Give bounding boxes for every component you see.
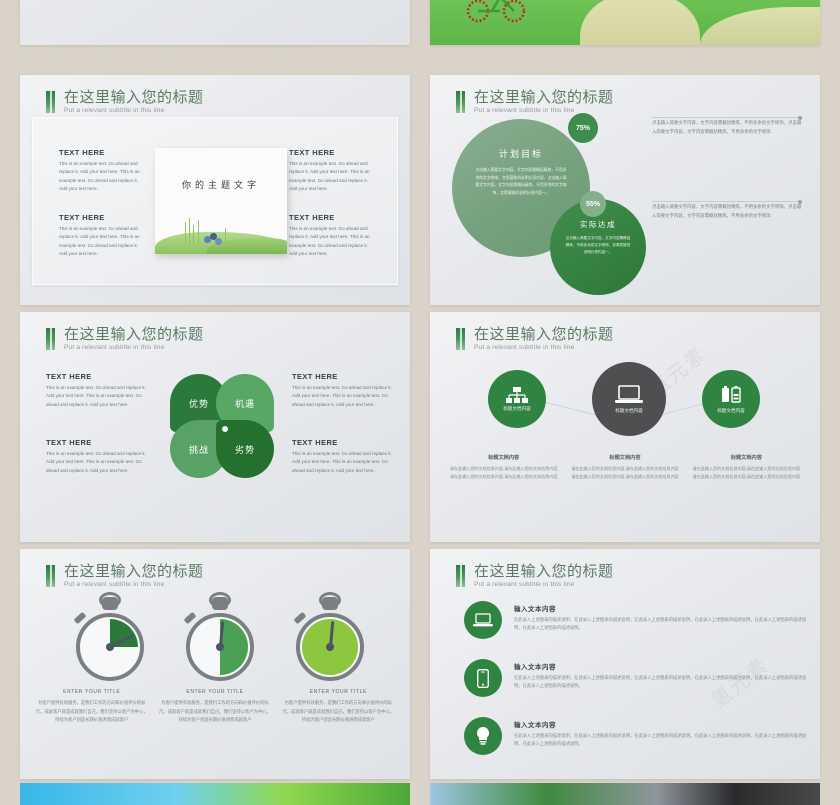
column-heading: 标题文档内容 [569, 454, 680, 461]
list-item-body: 在此录入上述图表的描述说明，在此录入上述图表的描述说明，在此录入上述图表的描述说… [514, 674, 808, 691]
slide5-block: TEXT HERE This is an example text. Go ah… [292, 372, 396, 409]
slide5-block: TEXT HERE This is an example text. Go ah… [46, 438, 150, 475]
list-item-text: 输入文本内容 在此录入上述图表的描述说明，在此录入上述图表的描述说明，在此录入上… [514, 601, 808, 633]
slide4-note-bottom: 点击输入简要文字内容，文字内容需概括精炼，不用多余的文字修饰，点击输入简要文字内… [652, 203, 802, 220]
plan-target-body: 点击输入简要文字内容，文字内容需概括精炼，不用多余的文字修饰，言简意赅的说明分项… [474, 167, 568, 197]
slide-thumbnail-3[interactable]: 在这里输入您的标题 Put a relevant subtitle in thi… [20, 75, 410, 305]
slide3-block: TEXT HERE This is an example text. Go ah… [289, 213, 375, 259]
title-accent-bar [456, 328, 465, 350]
slide4-title: 在这里输入您的标题 [474, 89, 614, 106]
slide7-column: ENTER YOUR TITLE 为客户提供有效服务，是我们工作的方向和价值评价… [157, 689, 272, 725]
slide5-title: 在这里输入您的标题 [64, 326, 204, 343]
stopwatch-2 [182, 597, 258, 689]
eco-illustration [430, 0, 820, 45]
sitemap-icon [506, 387, 528, 403]
list-item[interactable]: 输入文本内容 在此录入上述图表的描述说明，在此录入上述图表的描述说明，在此录入上… [464, 601, 808, 639]
stopwatch-crown [102, 597, 118, 610]
timer-label: ENTER YOUR TITLE [281, 689, 396, 695]
block-body: This is an example text. Go ahead and re… [292, 384, 396, 409]
bicycle-icon [466, 0, 530, 23]
laptop-badge [464, 601, 502, 639]
stopwatch-3 [292, 597, 368, 689]
stopwatch-crown [322, 597, 338, 610]
slide7-subtitle: Put a relevant subtitle in this line [64, 581, 204, 588]
slide6-subtitle: Put a relevant subtitle in this line [474, 344, 614, 351]
slide5-subtitle: Put a relevant subtitle in this line [64, 344, 204, 351]
slide3-subtitle: Put a relevant subtitle in this line [64, 107, 204, 114]
slide7-header: 在这里输入您的标题 Put a relevant subtitle in thi… [46, 563, 204, 588]
timer-label: ENTER YOUR TITLE [157, 689, 272, 695]
petal-label: 机遇 [235, 397, 255, 410]
laptop-icon [473, 613, 493, 628]
block-heading: TEXT HERE [46, 438, 150, 447]
slide3-title: 在这里输入您的标题 [64, 89, 204, 106]
block-body: This is an example text. Go ahead and re… [59, 160, 141, 194]
slide3-header: 在这里输入您的标题 Put a relevant subtitle in thi… [46, 89, 204, 114]
slide8-header: 在这里输入您的标题 Put a relevant subtitle in thi… [456, 563, 614, 588]
column-body: 请在此输入您的文档信息内容,请在此输入您的文档信息内容 请在此输入您的文档信息内… [569, 465, 680, 481]
timer-body: 为客户提供有效服务，是我们工作的方向和价值评价的标尺。成就客户就是成就我们自己。… [281, 699, 396, 725]
timer-body: 为客户提供有效服务，是我们工作的方向和价值评价的标尺。成就客户就是成就我们自己。… [34, 699, 149, 725]
slide-thumbnail-7[interactable]: 在这里输入您的标题 Put a relevant subtitle in thi… [20, 549, 410, 779]
block-body: This is an example text. Go ahead and re… [46, 384, 150, 409]
slide3-block: TEXT HERE This is an example text. Go ah… [59, 148, 141, 194]
card-main-text: 你的主题文字 [155, 178, 287, 191]
slide4-header: 在这里输入您的标题 Put a relevant subtitle in thi… [456, 89, 614, 114]
actual-achieve-label: 实际达成 [550, 219, 646, 230]
slide-thumbnail-4[interactable]: 在这里输入您的标题 Put a relevant subtitle in thi… [430, 75, 820, 305]
smartphone-badge [464, 659, 502, 697]
node-label: 标题文档内容 [615, 408, 643, 414]
slide6-column: 标题文档内容 请在此输入您的文档信息内容,请在此输入您的文档信息内容 请在此输入… [448, 454, 559, 481]
column-heading: 标题文档内容 [691, 454, 802, 461]
title-accent-bar [456, 91, 465, 113]
column-heading: 标题文档内容 [448, 454, 559, 461]
slide6-header: 在这里输入您的标题 Put a relevant subtitle in thi… [456, 326, 614, 351]
list-item-text: 输入文本内容 在此录入上述图表的描述说明，在此录入上述图表的描述说明，在此录入上… [514, 659, 808, 691]
leader-line-bottom [652, 201, 800, 202]
slide-thumbnail-5[interactable]: 在这里输入您的标题 Put a relevant subtitle in thi… [20, 312, 410, 542]
slide-thumbnail-6[interactable]: 在这里输入您的标题 Put a relevant subtitle in thi… [430, 312, 820, 542]
list-item-heading: 输入文本内容 [514, 603, 808, 613]
node-label: 标题文档内容 [717, 408, 745, 414]
petal-label: 优势 [189, 397, 209, 410]
stopwatch-pin [326, 643, 334, 651]
battery-icon [721, 385, 741, 405]
lightbulb-icon [475, 726, 491, 746]
block-heading: TEXT HERE [59, 213, 141, 222]
slide6-title: 在这里输入您的标题 [474, 326, 614, 343]
block-body: This is an example text. Go ahead and re… [292, 450, 396, 475]
block-heading: TEXT HERE [59, 148, 141, 157]
stopwatch-pin [216, 643, 224, 651]
slide-thumbnail-10-peek[interactable] [430, 783, 820, 805]
actual-percent-badge: 55% [580, 191, 606, 217]
lightbulb-badge [464, 717, 502, 755]
list-item[interactable]: 输入文本内容 在此录入上述图表的描述说明，在此录入上述图表的描述说明，在此录入上… [464, 659, 808, 697]
list-item-body: 在此录入上述图表的描述说明，在此录入上述图表的描述说明，在此录入上述图表的描述说… [514, 616, 808, 633]
block-heading: TEXT HERE [289, 213, 375, 222]
plan-percent-badge: 75% [568, 113, 598, 143]
slide6-column: 标题文档内容 请在此输入您的文档信息内容,请在此输入您的文档信息内容 请在此输入… [569, 454, 680, 481]
smartphone-icon [477, 669, 489, 688]
block-body: This is an example text. Go ahead and re… [289, 160, 375, 194]
list-item-heading: 输入文本内容 [514, 719, 808, 729]
slide-thumbnail-9-peek[interactable] [20, 783, 410, 805]
slide-thumbnail-2-eco[interactable] [430, 0, 820, 45]
block-body: This is an example text. Go ahead and re… [46, 450, 150, 475]
title-accent-bar [46, 91, 55, 113]
slide8-subtitle: Put a relevant subtitle in this line [474, 581, 614, 588]
list-item-body: 在此录入上述图表的描述说明，在此录入上述图表的描述说明，在此录入上述图表的描述说… [514, 732, 808, 749]
slide4-subtitle: Put a relevant subtitle in this line [474, 107, 614, 114]
column-body: 请在此输入您的文档信息内容,请在此输入您的文档信息内容 请在此输入您的文档信息内… [691, 465, 802, 481]
stopwatch-crown [212, 597, 228, 610]
slide3-block: TEXT HERE This is an example text. Go ah… [59, 213, 141, 259]
petal-label: 挑战 [189, 443, 209, 456]
block-body: This is an example text. Go ahead and re… [59, 225, 141, 259]
slide5-header: 在这里输入您的标题 Put a relevant subtitle in thi… [46, 326, 204, 351]
list-item-heading: 输入文本内容 [514, 661, 808, 671]
column-body: 请在此输入您的文档信息内容,请在此输入您的文档信息内容 请在此输入您的文档信息内… [448, 465, 559, 481]
slide-thumbnail-8[interactable]: 在这里输入您的标题 Put a relevant subtitle in thi… [430, 549, 820, 779]
petal-label: 劣势 [235, 443, 255, 456]
slide5-block: TEXT HERE This is an example text. Go ah… [292, 438, 396, 475]
slide8-title: 在这里输入您的标题 [474, 563, 614, 580]
slide3-block: TEXT HERE This is an example text. Go ah… [289, 148, 375, 194]
title-accent-bar [46, 328, 55, 350]
list-item-text: 输入文本内容 在此录入上述图表的描述说明，在此录入上述图表的描述说明，在此录入上… [514, 717, 808, 749]
timer-label: ENTER YOUR TITLE [34, 689, 149, 695]
slide3-panel: TEXT HERE This is an example text. Go ah… [32, 117, 398, 285]
slide7-column: ENTER YOUR TITLE 为客户提供有效服务，是我们工作的方向和价值评价… [34, 689, 149, 725]
runner-icon [612, 0, 646, 11]
plan-target-label: 计划目标 [452, 147, 590, 160]
stopwatch-pin [106, 643, 114, 651]
node-circle-battery[interactable]: 标题文档内容 [702, 370, 760, 428]
block-heading: TEXT HERE [292, 372, 396, 381]
block-body: This is an example text. Go ahead and re… [289, 225, 375, 259]
block-heading: TEXT HERE [292, 438, 396, 447]
block-heading: TEXT HERE [289, 148, 375, 157]
slide6-column: 标题文档内容 请在此输入您的文档信息内容,请在此输入您的文档信息内容 请在此输入… [691, 454, 802, 481]
slide6-columns: 标题文档内容 请在此输入您的文档信息内容,请在此输入您的文档信息内容 请在此输入… [448, 454, 802, 481]
card-scene-illustration [155, 218, 287, 254]
slide-thumbnail-1[interactable]: 为客户提供有效服务，是我们工作的方向和价值评价的标尺，成就客户就是成就我们自己，… [20, 0, 410, 45]
node-label: 标题文档内容 [503, 406, 531, 412]
stopwatch-1 [72, 597, 148, 689]
block-heading: TEXT HERE [46, 372, 150, 381]
title-accent-bar [46, 565, 55, 587]
slide-thumbnail-gallery: 为客户提供有效服务，是我们工作的方向和价值评价的标尺，成就客户就是成就我们自己，… [0, 0, 840, 788]
node-circle-sitemap[interactable]: 标题文档内容 [488, 370, 546, 428]
connector-line-2 [663, 402, 708, 414]
slide5-block: TEXT HERE This is an example text. Go ah… [46, 372, 150, 409]
leader-line-top [652, 117, 800, 118]
petal-center-dot [222, 426, 228, 432]
slide3-image-card: 你的主题文字 [155, 148, 287, 254]
slide4-note-top: 点击输入简要文字内容，文字内容需概括精炼，不用多余的文字修饰，点击输入简要文字内… [652, 119, 802, 136]
connector-line-1 [543, 401, 598, 416]
slide7-title: 在这里输入您的标题 [64, 563, 204, 580]
flower-icon [215, 238, 222, 245]
list-item[interactable]: 输入文本内容 在此录入上述图表的描述说明，在此录入上述图表的描述说明，在此录入上… [464, 717, 808, 755]
timer-body: 为客户提供有效服务，是我们工作的方向和价值评价的标尺。成就客户就是成就我们自己。… [157, 699, 272, 725]
laptop-icon [615, 385, 643, 405]
actual-achieve-body: 点击输入简要文字内容，文字内容需概括精炼，不用多余的文字修饰，言简意赅的说明分项… [564, 235, 632, 256]
title-accent-bar [456, 565, 465, 587]
slide7-column: ENTER YOUR TITLE 为客户提供有效服务，是我们工作的方向和价值评价… [281, 689, 396, 725]
node-circle-laptop[interactable]: 标题文档内容 [592, 362, 666, 436]
slide7-columns: ENTER YOUR TITLE 为客户提供有效服务，是我们工作的方向和价值评价… [34, 689, 396, 725]
